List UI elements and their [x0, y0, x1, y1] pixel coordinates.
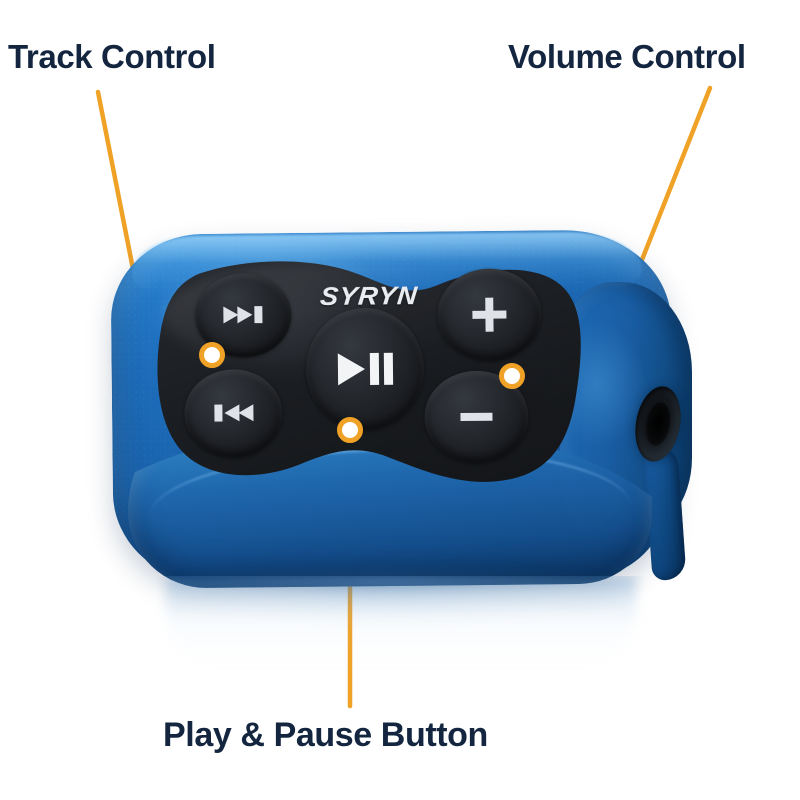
- product-annotation-scene: SYRYN: [0, 0, 800, 800]
- surface-reflection: [130, 576, 670, 716]
- reflection-body: [166, 576, 636, 680]
- headphone-jack-hole: [642, 400, 673, 447]
- play-pause-button[interactable]: [305, 307, 424, 430]
- control-panel: SYRYN: [151, 254, 585, 491]
- play-pause-icon: [334, 350, 396, 389]
- minus-icon: [455, 396, 497, 438]
- brand-logo-text: SYRYN: [319, 281, 419, 311]
- prev-track-icon: [211, 402, 255, 424]
- next-track-icon: [221, 304, 265, 326]
- plus-icon: [468, 294, 510, 336]
- device-illustration: SYRYN: [0, 0, 800, 800]
